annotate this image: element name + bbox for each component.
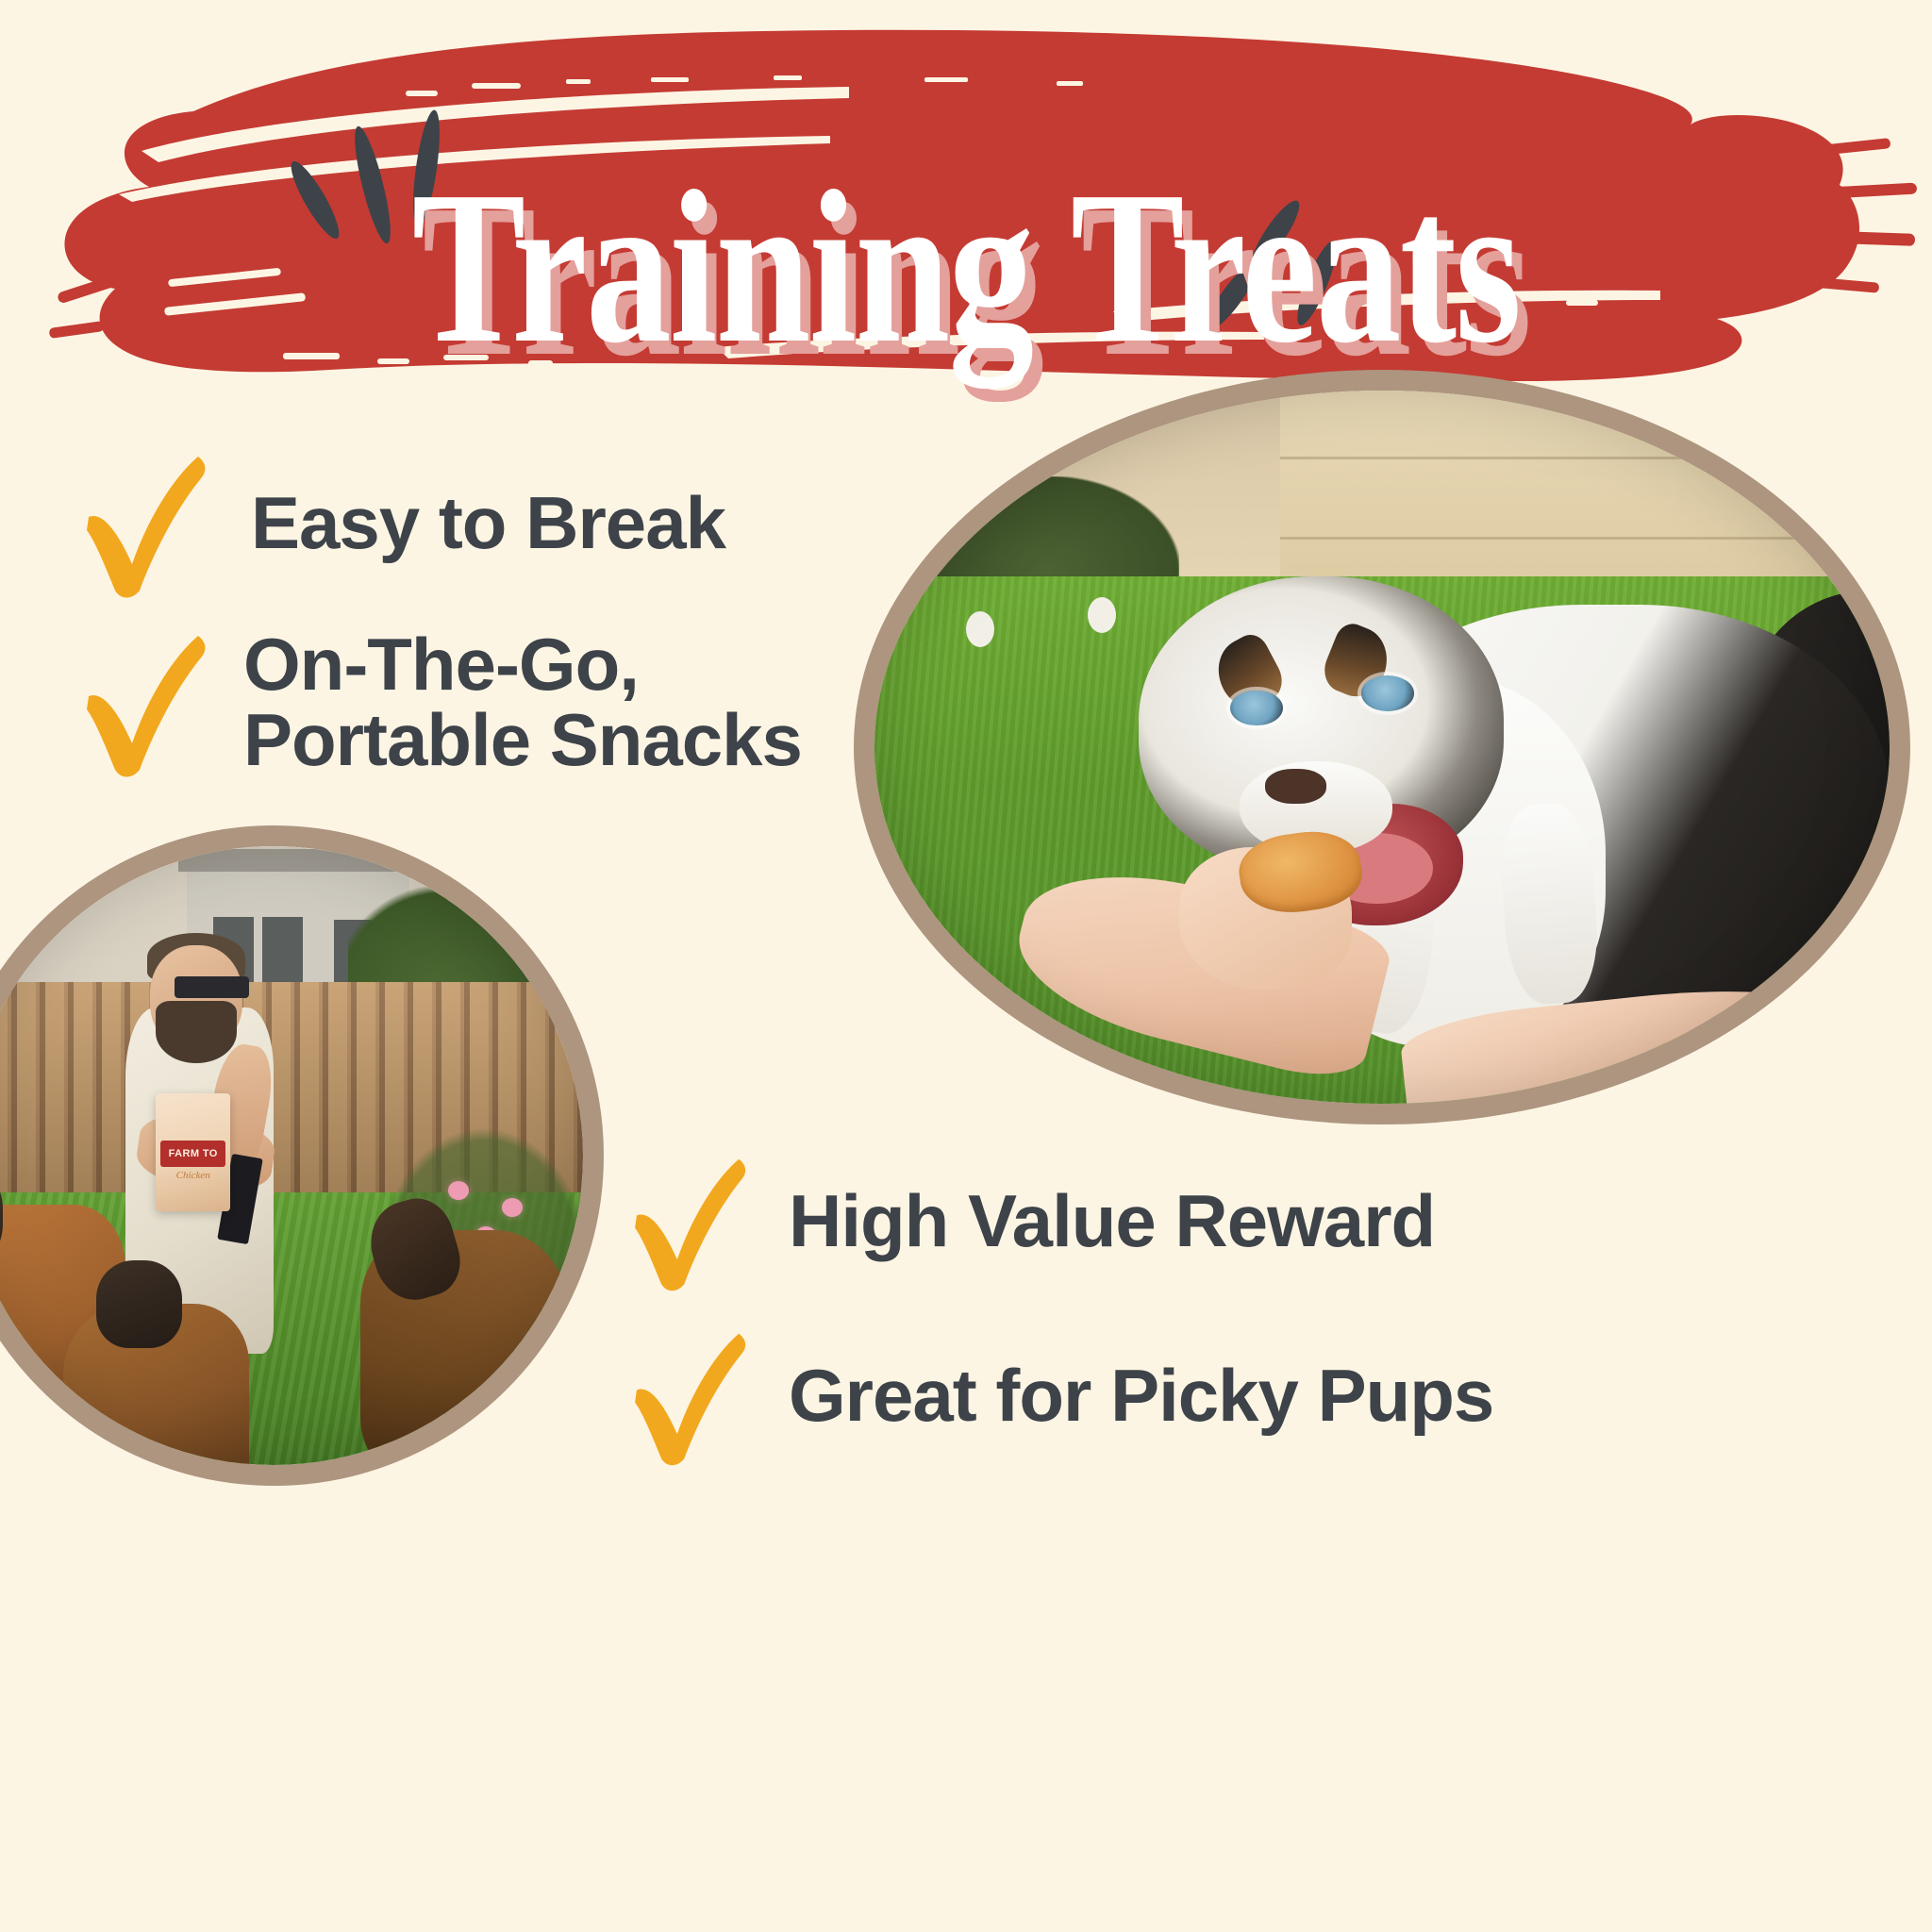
check-icon xyxy=(74,443,215,604)
package-flavor: Chicken xyxy=(165,1170,222,1181)
dog-sitting xyxy=(360,1230,571,1477)
feature-great-for-picky-pups: Great for Picky Pups xyxy=(623,1321,1493,1472)
poster-canvas: Training Treats Easy to Break On-The-Go,… xyxy=(0,0,1932,1932)
dog-nose xyxy=(1265,769,1326,805)
photo-dog-catching-treat xyxy=(854,370,1910,1124)
beard xyxy=(156,1001,236,1063)
check-icon xyxy=(623,1321,755,1472)
dog-foreground xyxy=(63,1304,249,1486)
check-icon xyxy=(623,1146,755,1297)
feature-easy-to-break: Easy to Break xyxy=(74,443,725,604)
feature-label: On-The-Go, Portable Snacks xyxy=(243,627,802,777)
feature-label: Great for Picky Pups xyxy=(789,1358,1493,1434)
photo-scene xyxy=(874,391,1890,1104)
sunglasses xyxy=(175,976,249,999)
photo-man-with-dogs: FARM TO Chicken xyxy=(0,825,604,1486)
dog-eye xyxy=(1230,691,1283,726)
treat-package: FARM TO Chicken xyxy=(156,1093,230,1211)
feature-high-value-reward: High Value Reward xyxy=(623,1146,1435,1297)
photo-scene: FARM TO Chicken xyxy=(0,846,583,1465)
check-icon xyxy=(74,623,215,783)
feature-label: High Value Reward xyxy=(789,1184,1435,1259)
feature-label: Easy to Break xyxy=(251,486,725,561)
feature-on-the-go: On-The-Go, Portable Snacks xyxy=(74,623,802,783)
page-title: Training Treats xyxy=(212,158,1719,377)
package-brand: FARM TO xyxy=(169,1148,218,1159)
